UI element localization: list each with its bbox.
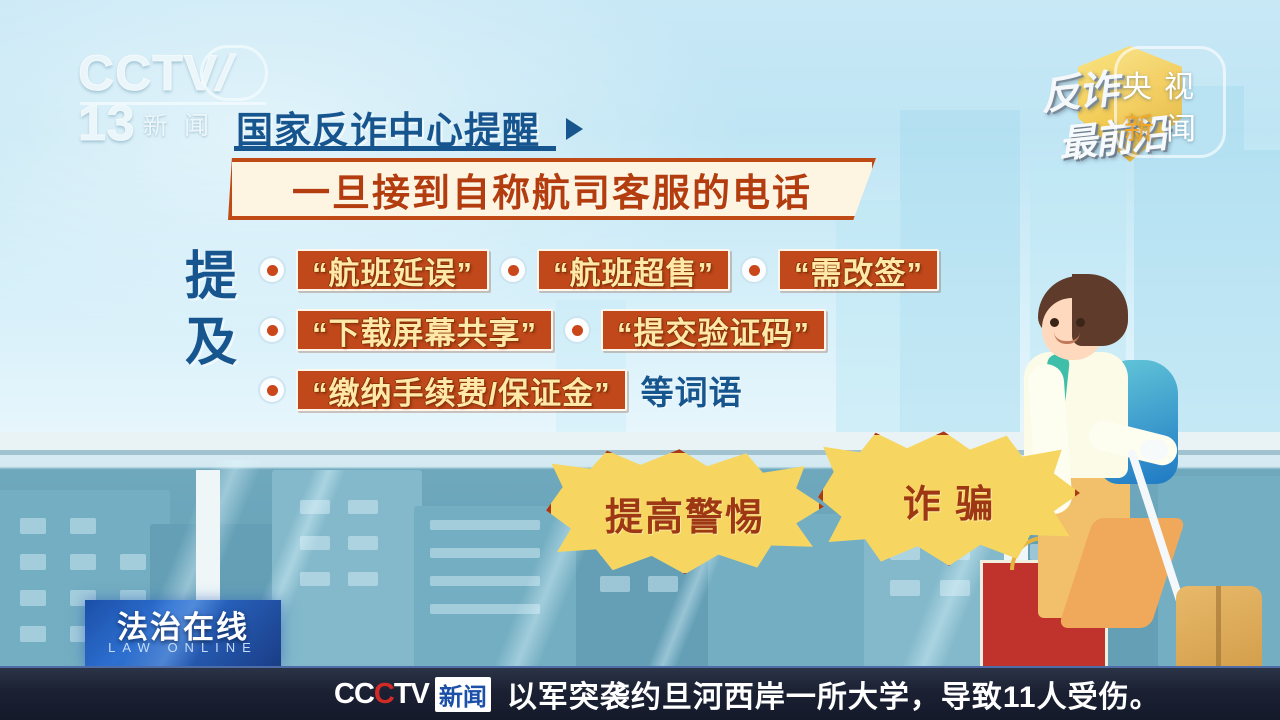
keyword-tag-label: “下载屏幕共享” — [312, 308, 537, 353]
ticker-logo-c-red: C — [374, 678, 394, 710]
banner-text: 一旦接到自称航司客服的电话 — [228, 158, 876, 220]
callout-burst: 诈 骗 — [818, 430, 1080, 570]
keywords-label-char2: 及 — [180, 310, 242, 376]
bullet-dot-icon — [260, 378, 284, 402]
keyword-tag-label: “提交验证码” — [617, 308, 810, 353]
bullet-dot-icon — [501, 258, 525, 282]
app-watermark-line2: 新闻 — [1124, 104, 1208, 148]
keyword-row-suffix: 等词语 — [641, 366, 743, 414]
callout-burst: 提高警惕 — [546, 448, 824, 578]
keyword-tag: “提交验证码” — [601, 309, 826, 351]
traveler-eye-left — [1050, 318, 1059, 327]
ticker-logo-tv: TV — [394, 678, 429, 710]
callout-text: 提高警惕 — [605, 486, 765, 541]
play-triangle-icon — [566, 118, 583, 140]
news-ticker: CCCTV 新闻 以军突袭约旦河西岸一所大学，导致11人受伤。 — [0, 666, 1280, 720]
corner-watermarks: 反诈 最前沿 央视 新闻 — [1022, 24, 1272, 174]
keyword-tag: “航班超售” — [537, 249, 730, 291]
channel-logo-main: CCTV — [78, 45, 218, 101]
program-name-english: LAW ONLINE — [85, 640, 281, 655]
traveler-hair-side — [1072, 274, 1128, 346]
keyword-tag-label: “需改签” — [794, 248, 923, 293]
ticker-logo-text: CCCTV — [334, 678, 429, 711]
suitcase-grip — [1140, 440, 1168, 460]
keyword-tag: “航班延误” — [296, 249, 489, 291]
kicker-underline — [234, 146, 556, 151]
keyword-tag: “需改签” — [778, 249, 939, 291]
keyword-tag: “下载屏幕共享” — [296, 309, 553, 351]
ticker-logo-news: 新闻 — [435, 677, 491, 712]
bullet-dot-icon — [565, 318, 589, 342]
ticker-headline: 以军突袭约旦河西岸一所大学，导致11人受伤。 — [507, 672, 1161, 716]
keyword-tag: “缴纳手续费/保证金” — [296, 369, 627, 411]
keyword-tag-label: “航班延误” — [312, 248, 473, 293]
bullet-dot-icon — [260, 258, 284, 282]
app-watermark-hot-char: 新 — [1124, 113, 1166, 146]
keywords-label-char1: 提 — [180, 244, 242, 310]
channel-logo-sub: 新闻 — [114, 106, 254, 142]
ticker-logo-cc: CC — [334, 678, 374, 710]
cctv-news-logo: CCCTV 新闻 — [334, 677, 491, 712]
keyword-tag-label: “航班超售” — [553, 248, 714, 293]
broadcast-screenshot: CCTV/13 新闻 反诈 最前沿 央视 新闻 国家反诈中心提醒 一旦接到自称航… — [0, 0, 1280, 720]
keywords-label: 提 及 — [180, 244, 242, 376]
callout-text: 诈 骗 — [903, 473, 996, 528]
app-watermark-rest-char: 闻 — [1166, 113, 1208, 146]
traveler-eye-right — [1076, 318, 1085, 327]
bullet-dot-icon — [742, 258, 766, 282]
keyword-tag-label: “缴纳手续费/保证金” — [312, 368, 611, 413]
channel-logo-oval — [200, 45, 268, 101]
program-bug: 法治在线 LAW ONLINE — [85, 600, 281, 666]
app-watermark-line1: 央视 — [1122, 62, 1206, 106]
bullet-dot-icon — [260, 318, 284, 342]
headline-banner: 一旦接到自称航司客服的电话 — [228, 158, 876, 220]
headline-kicker: 国家反诈中心提醒 — [236, 100, 540, 154]
